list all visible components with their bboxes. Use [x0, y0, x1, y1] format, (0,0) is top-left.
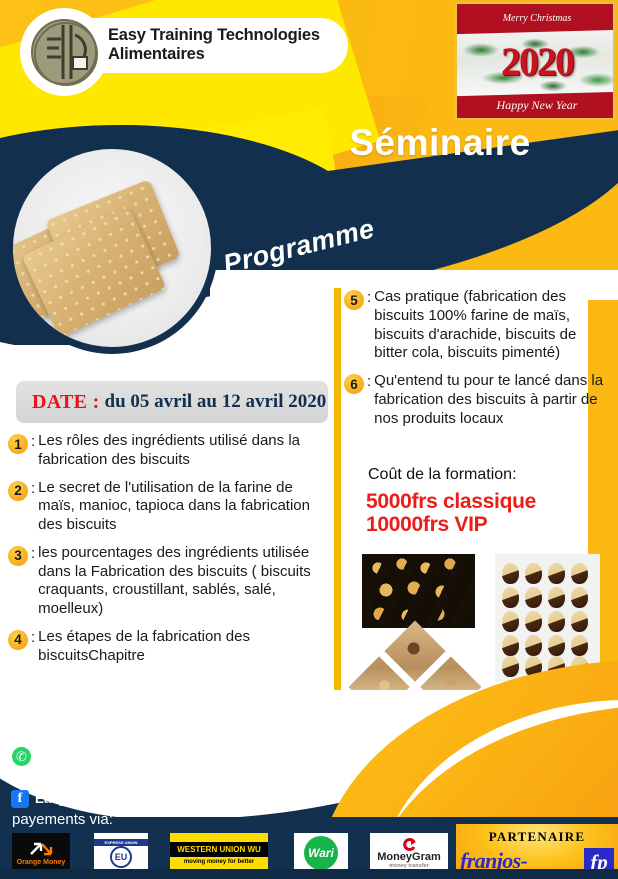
item-number-badge: 1: [8, 434, 28, 454]
item-colon: :: [31, 480, 35, 535]
payment-logos-row: Orange Money EXPRESS UNION EU WESTERN UN…: [12, 833, 442, 873]
program-list-left: 1 : Les rôles des ingrédients utilisé da…: [8, 432, 328, 674]
price-values: 5000frs classique 10000frs VIP: [366, 490, 536, 536]
price-vip: 10000frs VIP: [366, 513, 536, 536]
column-divider: [334, 288, 341, 720]
biscuit-photo: [6, 142, 218, 354]
orange-money-logo: Orange Money: [12, 833, 70, 873]
item-number-badge: 3: [8, 546, 28, 566]
happy-new-year-text: Happy New Year: [457, 98, 615, 113]
moneygram-swirl-icon: [401, 838, 417, 851]
item-text: Les étapes de la fabrication des biscuit…: [38, 628, 328, 666]
product-photo-biscuit-tray: [362, 554, 475, 628]
facebook-page-name: Easy Training Technologies Alimentaires: [35, 791, 297, 806]
item-text: Les rôles des ingrédients utilisé dans l…: [38, 432, 328, 470]
facebook-icon: f: [11, 790, 29, 808]
page-title: Séminaire: [300, 122, 580, 164]
item-colon: :: [367, 373, 371, 428]
price-classique: 5000frs classique: [366, 490, 536, 513]
christmas-new-year-card: Merry Christmas 2020 Happy New Year: [455, 2, 615, 120]
item-number-badge: 2: [8, 481, 28, 501]
item-colon: :: [367, 289, 371, 363]
moneygram-label: MoneyGram: [377, 851, 441, 863]
company-name: Easy Training Technologies Alimentaires: [108, 26, 348, 64]
eu-globe-icon: EU: [110, 846, 132, 868]
partner-label: PARTENAIRE: [456, 829, 618, 845]
list-item: 3 : les pourcentages des ingrédients uti…: [8, 544, 328, 619]
moneygram-logo: MoneyGram money transfer: [370, 833, 448, 873]
list-item: 1 : Les rôles des ingrédients utilisé da…: [8, 432, 328, 470]
date-value: du 05 avril au 12 avril 2020: [105, 391, 327, 413]
payments-label: payements via:: [12, 811, 113, 828]
wari-logo: Wari: [294, 833, 348, 873]
item-text: Qu'entend tu pour te lancé dans la fabri…: [374, 372, 610, 428]
item-number-badge: 6: [344, 374, 364, 394]
item-colon: :: [31, 433, 35, 470]
item-colon: :: [31, 629, 35, 666]
orange-money-arrows-icon: [28, 841, 54, 859]
item-text: Le secret de l'utilisation de la farine …: [38, 479, 328, 535]
list-item: 6 : Qu'entend tu pour te lancé dans la f…: [344, 372, 610, 428]
date-label: DATE :: [32, 391, 100, 414]
list-item: 4 : Les étapes de la fabrication des bis…: [8, 628, 328, 666]
item-text: Cas pratique (fabrication des biscuits 1…: [374, 288, 610, 363]
express-union-label: EU: [115, 852, 128, 862]
item-number-badge: 5: [344, 290, 364, 310]
orange-money-label: Orange Money: [17, 859, 66, 866]
date-banner: DATE : du 05 avril au 12 avril 2020: [16, 381, 328, 423]
western-union-logo: WESTERN UNION WU moving money for better: [170, 833, 268, 873]
item-number-badge: 4: [8, 630, 28, 650]
express-union-logo: EXPRESS UNION EU: [94, 833, 148, 873]
bottom-strip: [0, 869, 618, 879]
moneygram-tagline: money transfer: [389, 863, 429, 869]
wari-label: Wari: [304, 836, 338, 870]
list-item: 2 : Le secret de l'utilisation de la far…: [8, 479, 328, 535]
program-list-right: 5 : Cas pratique (fabrication des biscui…: [344, 288, 610, 437]
western-union-tagline: moving money for better: [184, 857, 254, 865]
contact-phones: +237 658 54 18 39 / +237 697 19 49 11 +2…: [34, 745, 334, 781]
product-photo-chocolate-cookies: [495, 554, 600, 682]
western-union-label: WESTERN UNION WU: [170, 842, 268, 857]
year-text: 2020: [457, 38, 615, 85]
list-item: 5 : Cas pratique (fabrication des biscui…: [344, 288, 610, 363]
express-union-sub: EXPRESS UNION: [94, 839, 148, 846]
price-label: Coût de la formation:: [368, 466, 517, 484]
eta-emblem-svg: [33, 21, 99, 87]
poster-canvas: Easy Training Technologies Alimentaires …: [0, 0, 618, 879]
item-text: les pourcentages des ingrédients utilisé…: [38, 544, 328, 619]
whatsapp-icon: ✆: [12, 747, 31, 766]
item-colon: :: [31, 545, 35, 619]
logo-badge: [20, 8, 108, 96]
eta-emblem-icon: [31, 19, 97, 85]
merry-christmas-text: Merry Christmas: [457, 13, 615, 24]
page-subtitle: Formation en ligne sur La fabrication de…: [296, 166, 596, 206]
